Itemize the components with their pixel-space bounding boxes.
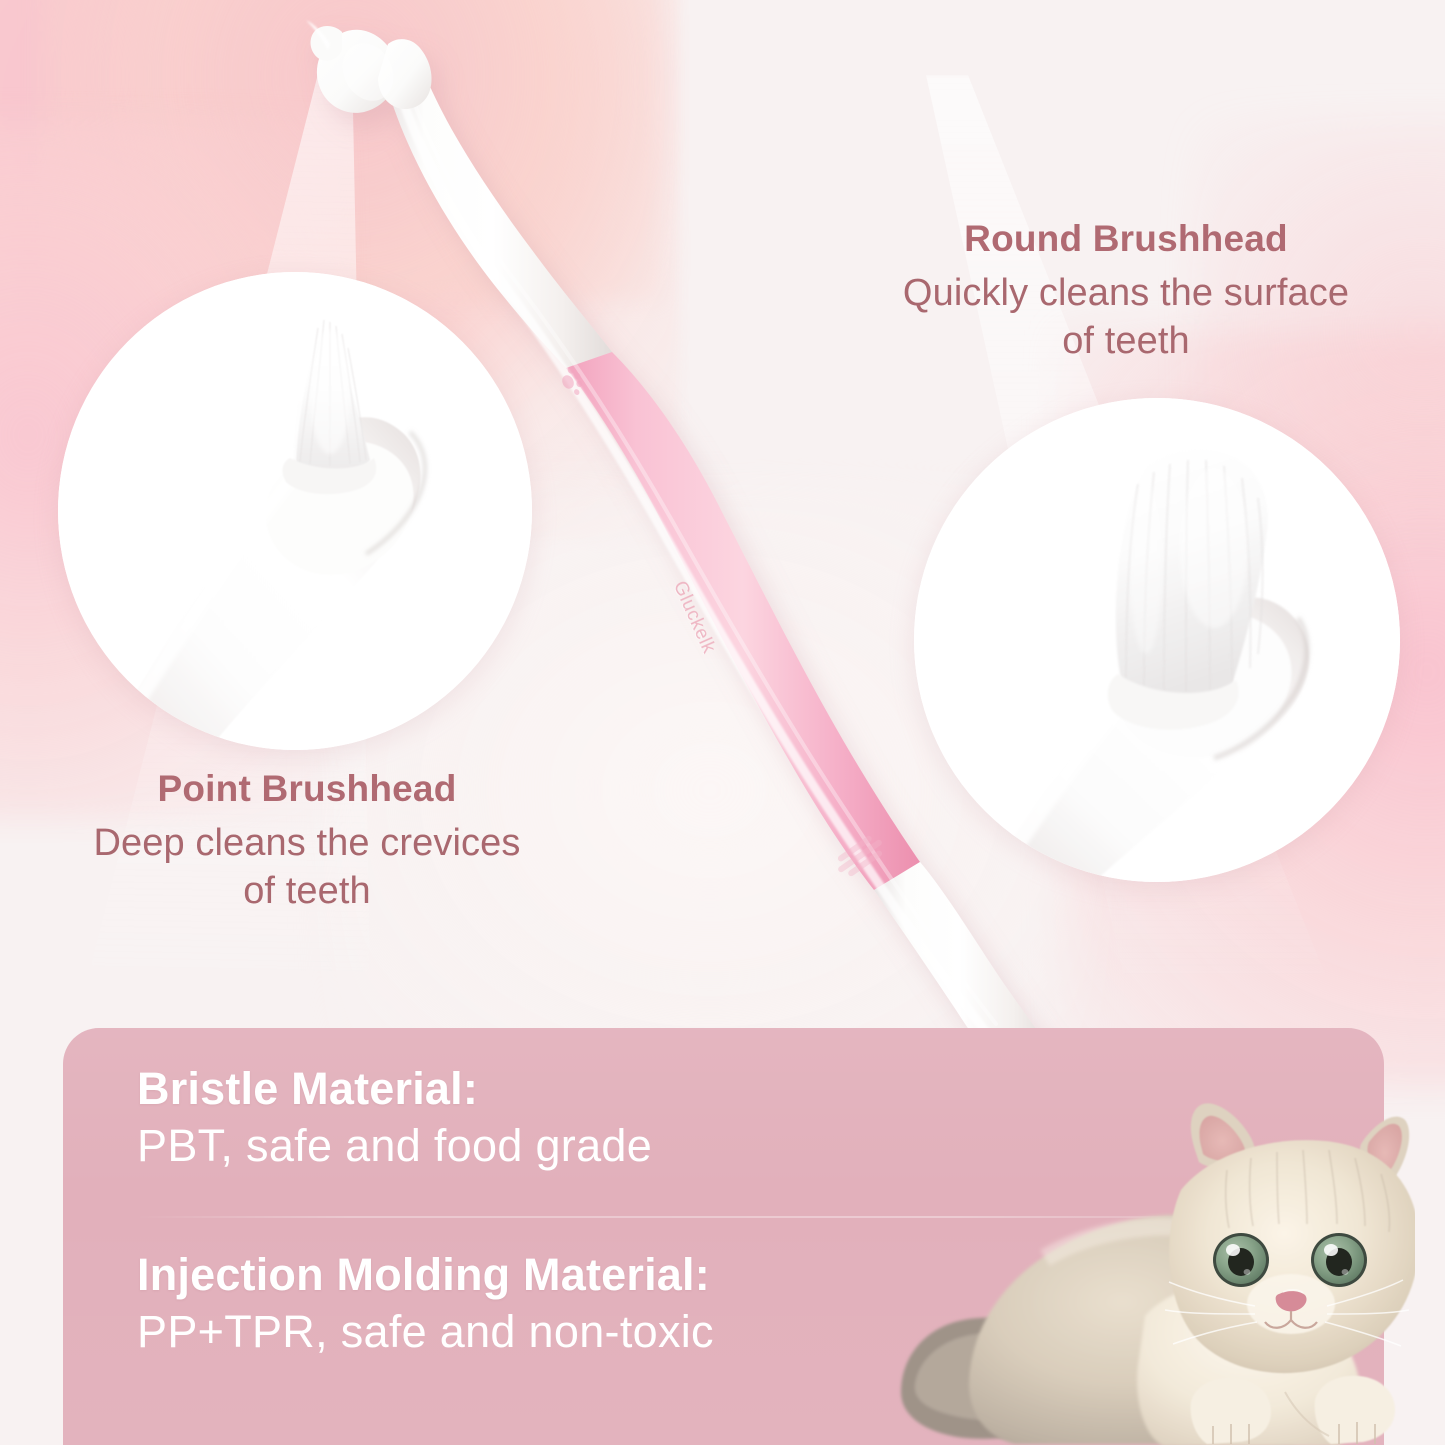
callout-round-desc-line1: Quickly cleans the surface [826,269,1426,318]
callout-point-title: Point Brushhead [22,768,592,811]
material-value-injection: PP+TPR, safe and non-toxic [137,1306,714,1358]
material-value-bristle: PBT, safe and food grade [137,1120,652,1172]
callout-round-brushhead: Round Brushhead Quickly cleans the surfa… [826,218,1426,366]
callout-point-desc-line2: of teeth [22,867,592,916]
callout-round-desc-line2: of teeth [826,317,1426,366]
cat-photo [895,1092,1415,1445]
callout-point-desc-line1: Deep cleans the crevices [22,819,592,868]
round-brushhead-closeup-inset [914,398,1400,882]
brand-emboss-label: Gluckelk [611,578,725,696]
point-brushhead-closeup-inset [58,272,532,750]
background-blob-top-left-2 [40,0,660,300]
material-label-injection: Injection Molding Material: [137,1250,714,1300]
material-row-bristle: Bristle Material: PBT, safe and food gra… [137,1064,652,1173]
material-label-bristle: Bristle Material: [137,1064,652,1114]
callout-point-brushhead: Point Brushhead Deep cleans the crevices… [22,768,592,916]
material-row-injection: Injection Molding Material: PP+TPR, safe… [137,1250,714,1359]
callout-round-title: Round Brushhead [826,218,1426,261]
product-infographic: Gluckelk [0,0,1445,1445]
